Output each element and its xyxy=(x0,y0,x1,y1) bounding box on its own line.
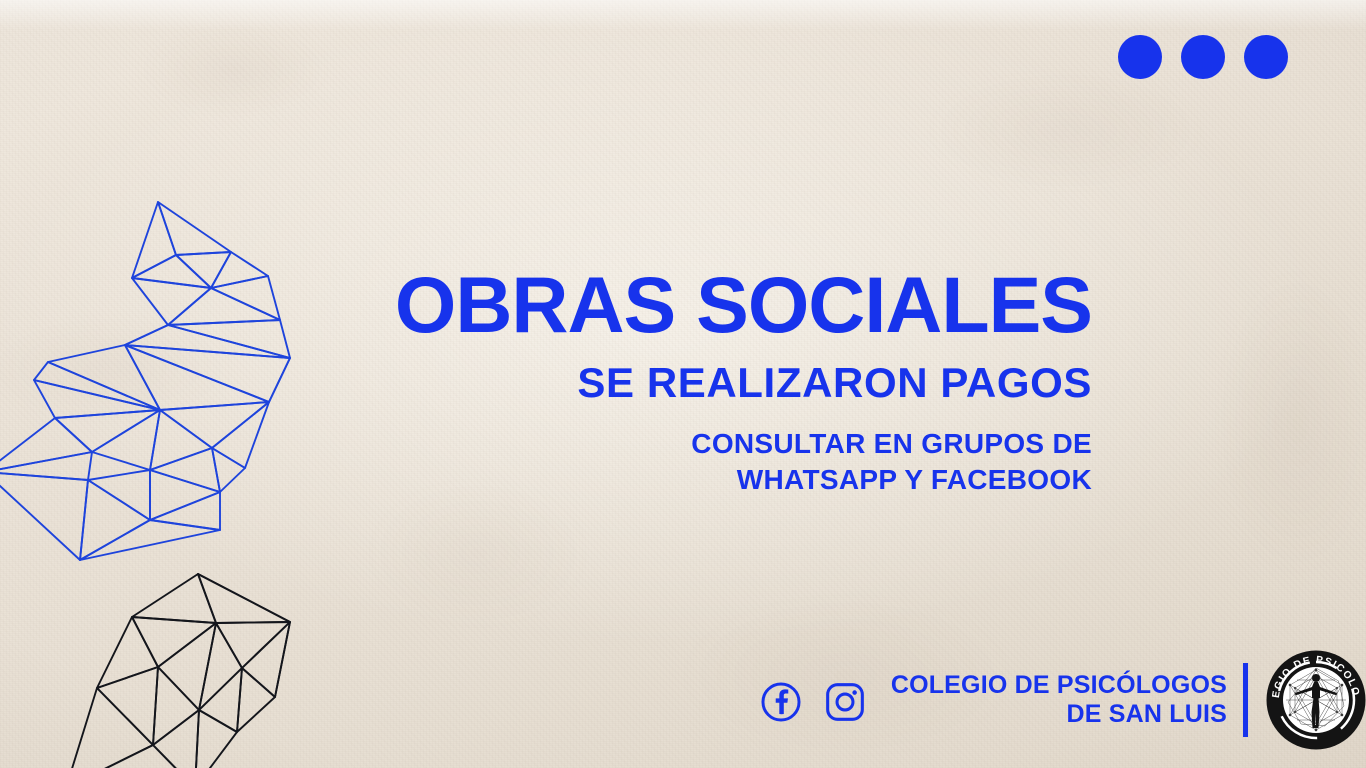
facebook-icon[interactable] xyxy=(760,681,802,723)
organization-seal-logo: COLEGIO DE PSICOLOGOS SAN LUIS xyxy=(1266,650,1366,750)
dot-1 xyxy=(1118,35,1162,79)
middle-cluster-black xyxy=(66,574,290,768)
page-title: OBRAS SOCIALES xyxy=(0,268,1092,342)
instagram-icon[interactable] xyxy=(824,681,866,723)
organization-name-line-1: COLEGIO DE PSICÓLOGOS xyxy=(888,671,1227,701)
page-note-line-2: WHATSAPP Y FACEBOOK xyxy=(0,462,1092,498)
poster-canvas: OBRAS SOCIALES SE REALIZARON PAGOS CONSU… xyxy=(0,0,1366,768)
top-light-strip xyxy=(0,0,1366,30)
organization-name: COLEGIO DE PSICÓLOGOS DE SAN LUIS xyxy=(888,671,1243,730)
page-note-line-1: CONSULTAR EN GRUPOS DE xyxy=(0,426,1092,462)
dot-3 xyxy=(1244,35,1288,79)
footer-bar: COLEGIO DE PSICÓLOGOS DE SAN LUIS COLEGI… xyxy=(760,645,1366,755)
footer-divider xyxy=(1243,663,1248,737)
organization-name-line-2: DE SAN LUIS xyxy=(888,700,1227,730)
page-subtitle: SE REALIZARON PAGOS xyxy=(0,362,1092,404)
headline-block: OBRAS SOCIALES SE REALIZARON PAGOS CONSU… xyxy=(0,268,1092,498)
dot-2 xyxy=(1181,35,1225,79)
social-links-group xyxy=(760,681,866,723)
page-note: CONSULTAR EN GRUPOS DE WHATSAPP Y FACEBO… xyxy=(0,426,1092,498)
decorative-dots-group xyxy=(1118,35,1288,79)
